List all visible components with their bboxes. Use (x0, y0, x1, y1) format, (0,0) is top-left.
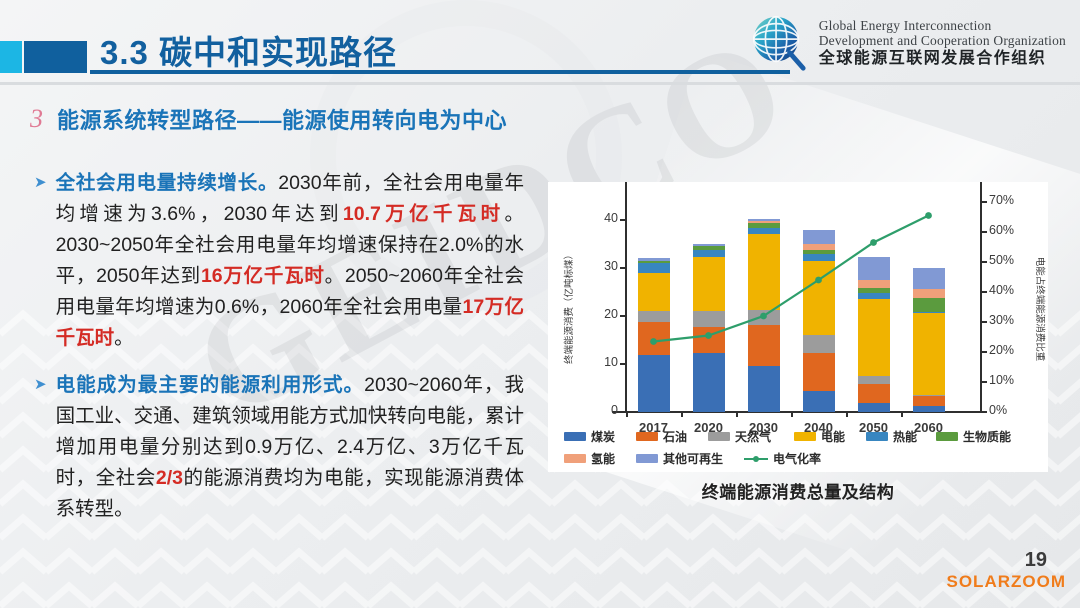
logo-en-line1: Global Energy Interconnection (819, 18, 1066, 33)
slide-number: 19 (1025, 549, 1047, 572)
chart-line-marker (760, 313, 767, 320)
chart-y2-tick (982, 231, 987, 233)
header-band-divider (0, 82, 1080, 85)
legend-label: 其他可再生 (663, 450, 723, 467)
chart-line-marker (815, 277, 822, 284)
legend-label: 电能 (821, 428, 845, 445)
chart-y-tick (620, 219, 625, 221)
header-accent-block-cyan (0, 41, 22, 73)
legend-swatch (936, 432, 958, 441)
legend-item[interactable]: 电能 (794, 428, 866, 445)
legend-swatch (636, 454, 658, 463)
chart-y2-tick (982, 411, 987, 413)
chart-y2-tick (982, 291, 987, 293)
bullet-paragraph: 全社会用电量持续增长。2030年前，全社会用电量年均增速为3.6%，2030年达… (56, 168, 524, 354)
logo-cn-line: 全球能源互联网发展合作组织 (819, 50, 1066, 68)
legend-item[interactable]: 生物质能 (936, 428, 1032, 445)
chart-y2-tick-label: 20% (989, 343, 1029, 357)
legend-swatch (866, 432, 888, 441)
chart-line-path (654, 216, 929, 342)
chart-y2-axis-line (980, 182, 982, 412)
chart-line-marker (705, 332, 712, 339)
bullet-lead-text: 全社会用电量持续增长。 (56, 172, 279, 194)
slide-header: 3.3 碳中和实现路径 (0, 0, 1080, 92)
chart-y2-tick-label: 40% (989, 283, 1029, 297)
chart-y2-tick (982, 381, 987, 383)
header-accent-block-blue (24, 41, 87, 73)
legend-label: 生物质能 (963, 428, 1011, 445)
legend-label: 热能 (893, 428, 917, 445)
chart-y2-tick-label: 50% (989, 253, 1029, 267)
chart-y2-tick-label: 0% (989, 403, 1029, 417)
legend-label: 氢能 (591, 450, 615, 467)
chart-legend: 煤炭石油天然气电能热能生物质能氢能其他可再生电气化率 (564, 428, 1034, 472)
chart-y2-tick (982, 201, 987, 203)
legend-swatch (564, 432, 586, 441)
legend-item[interactable]: 石油 (636, 428, 708, 445)
chart-y-tick-label: 30 (592, 259, 618, 273)
legend-item-line[interactable]: 电气化率 (744, 450, 821, 467)
bullet-paragraph: 电能成为最主要的能源利用形式。2030~2060年，我国工业、交通、建筑领域用能… (56, 370, 524, 525)
legend-item[interactable]: 天然气 (708, 428, 794, 445)
bullet-arrow-icon: ➤ (34, 369, 47, 400)
chart-x-tick (846, 412, 848, 417)
chart-title: 终端能源消费总量及结构 (548, 478, 1048, 503)
chart-line-marker (925, 212, 932, 219)
legend-label: 煤炭 (591, 428, 615, 445)
organization-logo: Global Energy Interconnection Developmen… (747, 10, 1066, 76)
bullet-item: ➤ 全社会用电量持续增长。2030年前，全社会用电量年均增速为3.6%，2030… (34, 168, 524, 354)
legend-label: 石油 (663, 428, 687, 445)
chart-y2-axis-label: 电能占终端能源消费比重 (1034, 234, 1048, 384)
chart-y2-tick-label: 10% (989, 373, 1029, 387)
legend-label: 电气化率 (773, 450, 821, 467)
legend-swatch (564, 454, 586, 463)
logo-en-line2: Development and Cooperation Organization (819, 33, 1066, 48)
chart-y-axis-label: 终端能源消费（亿吨标煤） (561, 232, 575, 382)
legend-item[interactable]: 热能 (866, 428, 936, 445)
legend-item[interactable]: 其他可再生 (636, 450, 744, 467)
chart-y-tick-label: 40 (592, 211, 618, 225)
bullet-arrow-icon: ➤ (34, 167, 47, 198)
body-text-column: ➤ 全社会用电量持续增长。2030年前，全社会用电量年均增速为3.6%，2030… (34, 168, 524, 541)
legend-item[interactable]: 煤炭 (564, 428, 636, 445)
highlight-text: 16万亿千瓦时 (201, 265, 325, 287)
chart-y2-tick-label: 70% (989, 193, 1029, 207)
chart-plot-area: 0102030400%10%20%30%40%50%60%70%20172020… (626, 196, 956, 412)
chart-y-tick (620, 411, 625, 413)
chart-y-tick (620, 315, 625, 317)
chart-line-series (626, 196, 956, 412)
solarzoom-watermark: SOLARZOOM (947, 572, 1067, 592)
chart-y2-tick (982, 261, 987, 263)
logo-text-block: Global Energy Interconnection Developmen… (819, 18, 1066, 69)
body-text: 。 (114, 327, 134, 349)
legend-label: 天然气 (735, 428, 771, 445)
highlight-text: 10.7万亿千瓦时 (343, 203, 505, 225)
chart-y-tick (620, 363, 625, 365)
legend-swatch (636, 432, 658, 441)
subtitle-number-badge: 3 (30, 106, 43, 132)
subtitle-text: 能源系统转型路径——能源使用转向电为中心 (57, 103, 507, 135)
legend-line-marker (744, 454, 768, 464)
chart-x-tick (791, 412, 793, 417)
chart-y-tick (620, 267, 625, 269)
chart-y-tick-label: 20 (592, 307, 618, 321)
chart-line-marker (650, 338, 657, 345)
chart-panel: 终端能源消费（亿吨标煤） 电能占终端能源消费比重 0102030400%10%2… (548, 182, 1048, 472)
highlight-text: 2/3 (156, 467, 183, 489)
legend-swatch (794, 432, 816, 441)
chart-y2-tick-label: 60% (989, 223, 1029, 237)
slide-root: GEIDCO 3.3 碳中和实现路径 (0, 0, 1080, 608)
chart-x-tick (626, 412, 628, 417)
chart-x-tick (736, 412, 738, 417)
section-subtitle: 3 能源系统转型路径——能源使用转向电为中心 (30, 103, 507, 135)
chart-x-tick (681, 412, 683, 417)
chart-x-tick (901, 412, 903, 417)
legend-item[interactable]: 氢能 (564, 450, 636, 467)
chart-line-marker (870, 239, 877, 246)
chart-y2-tick (982, 351, 987, 353)
bullet-lead-text: 电能成为最主要的能源利用形式。 (56, 374, 365, 396)
chart-y-tick-label: 10 (592, 355, 618, 369)
bullet-item: ➤ 电能成为最主要的能源利用形式。2030~2060年，我国工业、交通、建筑领域… (34, 370, 524, 525)
legend-swatch (708, 432, 730, 441)
globe-icon (747, 12, 809, 74)
chart-y-tick-label: 0 (592, 403, 618, 417)
chart-y2-tick-label: 30% (989, 313, 1029, 327)
page-title: 3.3 碳中和实现路径 (100, 26, 397, 74)
chart-y2-tick (982, 321, 987, 323)
